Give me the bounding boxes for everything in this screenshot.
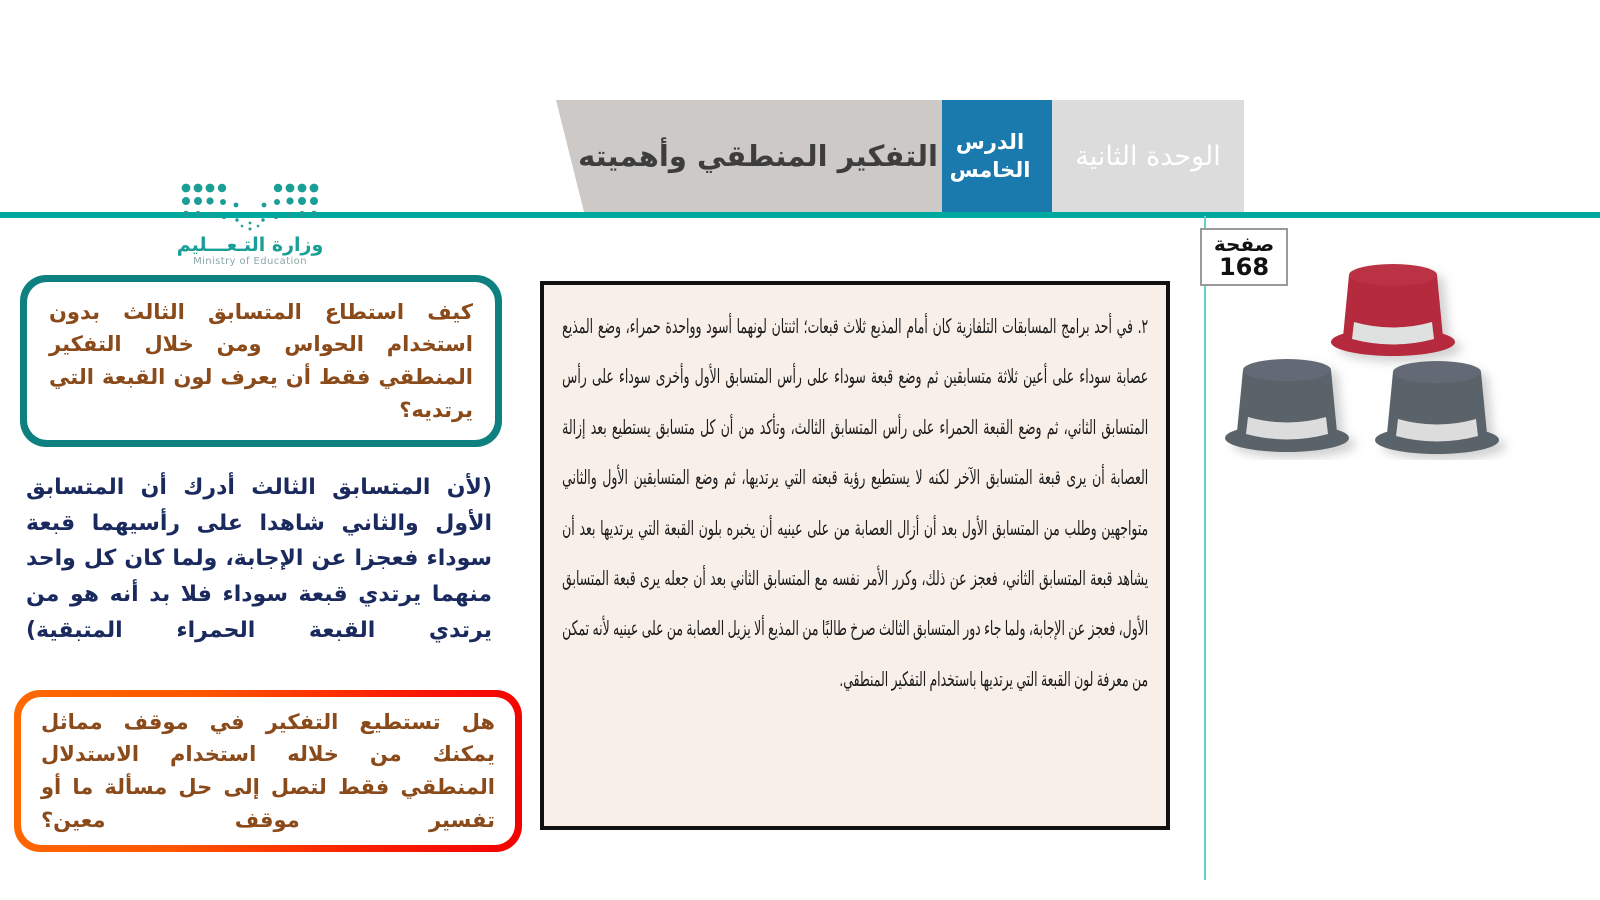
lesson-title: التفكير المنطقي وأهميته: [556, 100, 942, 212]
moe-palm-dots-icon: [180, 182, 320, 234]
red-top-hat: [1331, 264, 1455, 356]
reflection-prompt-callout: هل تستطيع التفكير في موقف مماثل يمكنك من…: [14, 690, 522, 852]
header-lesson-block: الدرس الخامس: [928, 100, 1052, 212]
header-lesson-line2: الخامس: [950, 158, 1031, 182]
exercise-body-text: ٢. في أحد برامج المسابقات التلفازية كان …: [562, 301, 1148, 704]
reflection-prompt-text: هل تستطيع التفكير في موقف مماثل يمكنك من…: [41, 706, 495, 836]
right-panel-divider: [1204, 216, 1206, 880]
slide-canvas: الوحدة الثانية الدرس الخامس التفكير المن…: [0, 0, 1600, 900]
question-callout: كيف استطاع المتسابق الثالث بدون استخدام …: [20, 275, 502, 447]
exercise-text-box: ٢. في أحد برامج المسابقات التلفازية كان …: [540, 281, 1170, 830]
header-lesson-line1: الدرس: [956, 130, 1024, 154]
gray-top-hat-left: [1225, 359, 1349, 452]
gray-top-hat-right: [1375, 361, 1499, 454]
header-unit-label: الوحدة الثانية: [1052, 100, 1244, 212]
header-unit-block: الوحدة الثانية: [1052, 100, 1244, 212]
question-callout-inner: كيف استطاع المتسابق الثالث بدون استخدام …: [27, 282, 495, 440]
reflection-prompt-inner: هل تستطيع التفكير في موقف مماثل يمكنك من…: [21, 697, 515, 845]
ministry-of-education-logo: وزارة التـعـــليم Ministry of Education: [150, 182, 350, 274]
answer-text: (لأن المتسابق الثالث أدرك أن المتسابق ال…: [26, 470, 492, 648]
logo-english-text: Ministry of Education: [150, 256, 350, 267]
question-callout-text: كيف استطاع المتسابق الثالث بدون استخدام …: [49, 296, 473, 426]
three-top-hats-illustration: [1215, 250, 1525, 460]
top-hats-icon: [1215, 250, 1525, 460]
header-title-block: التفكير المنطقي وأهميته: [556, 100, 942, 212]
logo-arabic-text: وزارة التـعـــليم: [150, 234, 350, 256]
